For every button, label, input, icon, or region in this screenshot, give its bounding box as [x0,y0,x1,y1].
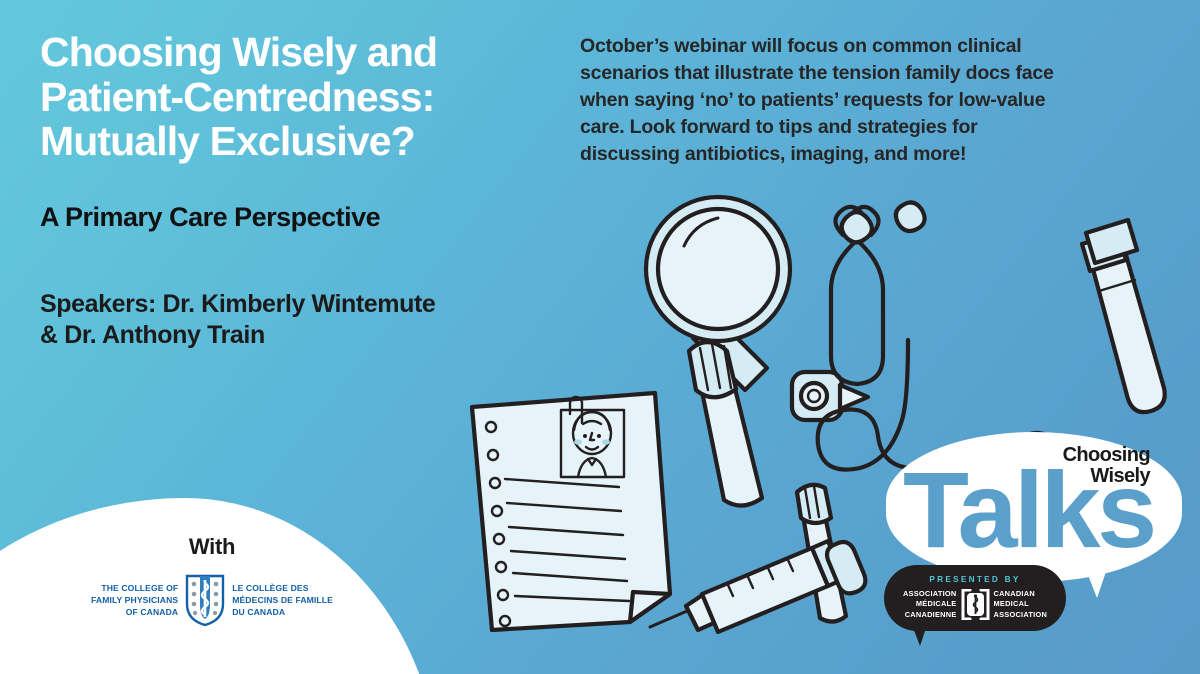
title-line-3: Mutually Exclusive? [40,119,560,164]
cma-fr-line-3: CANADIENNE [903,610,957,620]
magnifying-glass-icon [646,197,790,506]
with-label: With [62,534,362,560]
headline-block: Choosing Wisely and Patient-Centredness:… [40,30,560,350]
title-line-1: Choosing Wisely and [40,30,560,75]
partner-logo-block: With THE COLLEGE OF FAMILY PHYSICIANS OF… [62,534,362,626]
patient-chart-icon [472,393,670,630]
speakers-line-2: & Dr. Anthony Train [40,320,560,351]
cfpc-fr-line-1: LE COLLÈGE DES [232,582,333,594]
cma-en-line-3: ASSOCIATION [994,610,1048,620]
speakers-line-1: Speakers: Dr. Kimberly Wintemute [40,289,560,320]
cw-line-wisely: Wisely [1035,466,1150,487]
test-tube-icon [1082,220,1165,412]
cfpc-english-name: THE COLLEGE OF FAMILY PHYSICIANS OF CANA… [91,582,178,619]
cfpc-fr-line-3: DU CANADA [232,606,333,618]
choosing-wisely-wordmark: Choosing Wisely [1035,445,1150,487]
cma-logo: ASSOCIATION MÉDICALE CANADIENNE CANADIAN… [884,589,1066,620]
presented-by-label: PRESENTED BY [884,575,1066,584]
cfpc-fr-line-2: MÉDECINS DE FAMILLE [232,594,333,606]
title-line-2: Patient-Centredness: [40,75,560,120]
syringe-icon [650,541,865,632]
cfpc-en-line-3: OF CANADA [91,606,178,618]
cma-fr-line-2: MÉDICALE [903,599,957,609]
cma-caduceus-icon [961,589,990,620]
otoscope-icon [792,372,868,622]
cma-en-line-1: CANADIAN [994,589,1048,599]
page-subtitle: A Primary Care Perspective [40,202,560,233]
page-title: Choosing Wisely and Patient-Centredness:… [40,30,560,164]
webinar-promo-banner: .fillLite { fill:#d6ecf4; } .fillPale { … [0,0,1200,674]
cfpc-french-name: LE COLLÈGE DES MÉDECINS DE FAMILLE DU CA… [232,582,333,619]
cfpc-en-line-2: FAMILY PHYSICIANS [91,594,178,606]
patient-avatar [573,412,611,477]
webinar-description: October’s webinar will focus on common c… [580,33,1070,168]
cma-en-line-2: MEDICAL [994,599,1048,609]
cma-fr-line-1: ASSOCIATION [903,589,957,599]
cfpc-crest-icon [185,574,225,626]
cma-french-name: ASSOCIATION MÉDICALE CANADIENNE [903,589,957,620]
cfpc-en-line-1: THE COLLEGE OF [91,582,178,594]
speakers-block: Speakers: Dr. Kimberly Wintemute & Dr. A… [40,289,560,350]
cma-english-name: CANADIAN MEDICAL ASSOCIATION [994,589,1048,620]
cfpc-logo: THE COLLEGE OF FAMILY PHYSICIANS OF CANA… [62,574,362,626]
cw-line-choosing: Choosing [1035,445,1150,466]
